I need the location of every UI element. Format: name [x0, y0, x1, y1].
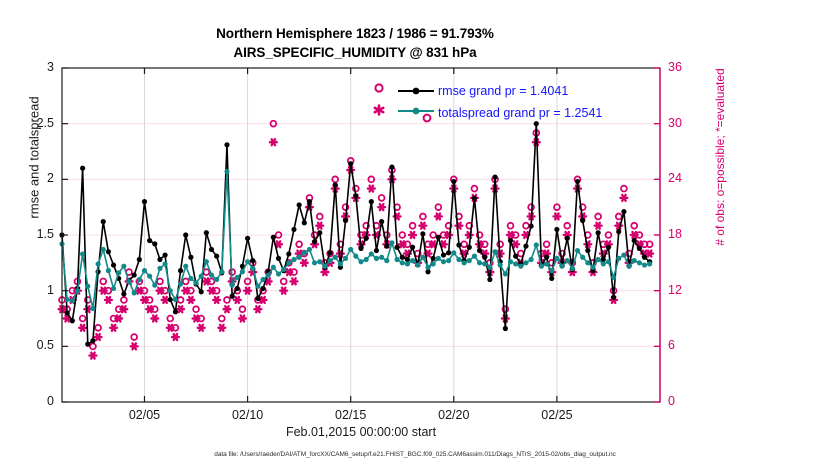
legend-item-totalspread[interactable]: totalspread grand pr = 1.2541	[372, 102, 602, 124]
y-tick-right: 36	[668, 60, 708, 74]
legend: rmse grand pr = 1.4041 totalspread grand…	[372, 80, 602, 124]
y-tick-right: 18	[668, 227, 708, 241]
x-tick: 02/20	[424, 408, 484, 422]
x-tick: 02/05	[114, 408, 174, 422]
y-tick-left: 1	[14, 283, 54, 297]
chart-figure: Northern Hemisphere 1823 / 1986 = 91.793…	[0, 0, 830, 470]
y-tick-left: 2.5	[14, 116, 54, 130]
legend-item-rmse[interactable]: rmse grand pr = 1.4041	[372, 80, 602, 102]
x-tick: 02/25	[527, 408, 587, 422]
y-tick-right: 12	[668, 283, 708, 297]
y-tick-right: 24	[668, 171, 708, 185]
y-tick-right: 6	[668, 338, 708, 352]
y-tick-left: 0	[14, 394, 54, 408]
totalspread-line-sample	[396, 102, 436, 124]
asterisk-icon	[372, 100, 396, 127]
obs-evaluated	[59, 139, 653, 358]
y-tick-left: 1.5	[14, 227, 54, 241]
legend-label-totalspread: totalspread grand pr = 1.2541	[436, 102, 602, 124]
x-tick: 02/15	[321, 408, 381, 422]
rmse-line-sample	[396, 80, 436, 102]
y-tick-left: 0.5	[14, 338, 54, 352]
y-tick-left: 3	[14, 60, 54, 74]
x-tick: 02/10	[218, 408, 278, 422]
y-tick-right: 0	[668, 394, 708, 408]
legend-label-rmse: rmse grand pr = 1.4041	[436, 80, 568, 102]
y-tick-right: 30	[668, 116, 708, 130]
y-tick-left: 2	[14, 171, 54, 185]
